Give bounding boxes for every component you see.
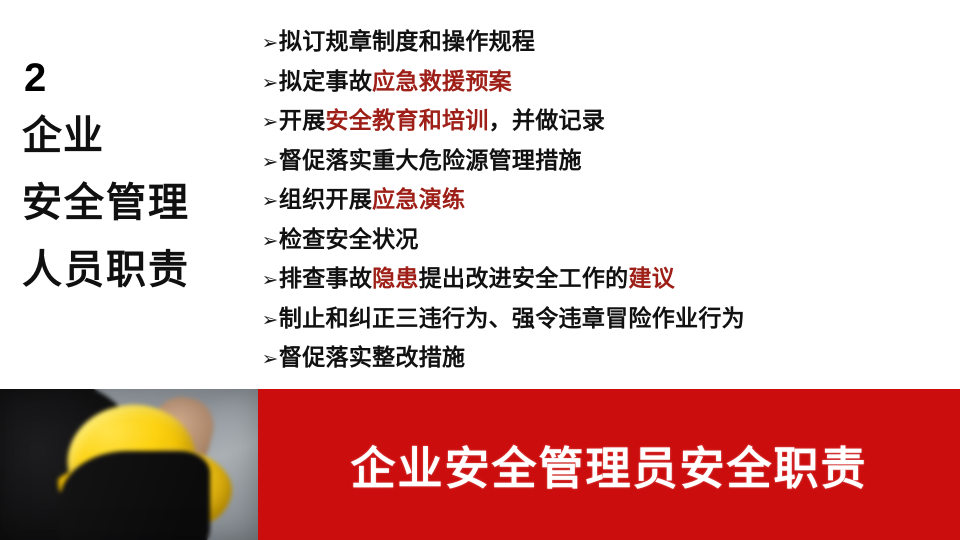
bullet-highlight-text: 安全教育和培训 xyxy=(326,107,489,133)
bullet-highlight-text: 应急救援预案 xyxy=(372,68,512,94)
bullet-item: ➢排查事故隐患提出改进安全工作的建议 xyxy=(262,259,954,299)
slide-canvas: 2 企业 安全管理 人员职责 ➢拟订规章制度和操作规程➢拟定事故应急救援预案➢开… xyxy=(0,0,960,540)
bullet-item: ➢拟定事故应急救援预案 xyxy=(262,62,954,102)
slide-number: 2 xyxy=(24,58,250,98)
photo-depth-blur xyxy=(0,389,258,540)
slide-title-line-2: 安全管理 xyxy=(22,183,250,223)
bullet-plain-text: 开展 xyxy=(279,107,326,133)
arrow-bullet-icon: ➢ xyxy=(262,301,279,341)
arrow-bullet-icon: ➢ xyxy=(262,222,279,262)
bullet-plain-text: 督促落实重大危险源管理措施 xyxy=(279,147,582,173)
arrow-bullet-icon: ➢ xyxy=(262,64,279,104)
bullet-plain-text: ，并做记录 xyxy=(489,107,606,133)
bullet-item: ➢督促落实重大危险源管理措施 xyxy=(262,141,954,181)
bullet-item: ➢组织开展应急演练 xyxy=(262,180,954,220)
bullet-plain-text: 制止和纠正三违行为、强令违章冒险作业行为 xyxy=(279,305,745,331)
arrow-bullet-icon: ➢ xyxy=(262,103,279,143)
bullet-plain-text: 排查事故 xyxy=(279,265,372,291)
bullet-item: ➢督促落实整改措施 xyxy=(262,338,954,378)
bullet-highlight-text: 隐患 xyxy=(372,265,419,291)
arrow-bullet-icon: ➢ xyxy=(262,24,279,64)
bullet-plain-text: 提出改进安全工作的 xyxy=(419,265,629,291)
banner-title: 企业安全管理员安全职责 xyxy=(350,432,867,497)
bullet-item: ➢开展安全教育和培训，并做记录 xyxy=(262,101,954,141)
banner-title-area: 企业安全管理员安全职责 xyxy=(258,389,960,540)
slide-title-line-3: 人员职责 xyxy=(22,250,250,290)
bullet-item: ➢拟订规章制度和操作规程 xyxy=(262,22,954,62)
arrow-bullet-icon: ➢ xyxy=(262,182,279,222)
arrow-bullet-icon: ➢ xyxy=(262,340,279,380)
slide-title-column: 2 企业 安全管理 人员职责 xyxy=(0,0,258,389)
bullet-item: ➢检查安全状况 xyxy=(262,220,954,260)
bullet-plain-text: 检查安全状况 xyxy=(279,226,419,252)
responsibility-bullet-list: ➢拟订规章制度和操作规程➢拟定事故应急救援预案➢开展安全教育和培训，并做记录➢督… xyxy=(262,22,954,387)
bullet-item-text: 拟定事故应急救援预案 xyxy=(279,62,512,102)
bullet-item-text: 督促落实整改措施 xyxy=(279,338,465,378)
bullet-item-text: 排查事故隐患提出改进安全工作的建议 xyxy=(279,259,675,299)
bullet-plain-text: 拟订规章制度和操作规程 xyxy=(279,28,535,54)
arrow-bullet-icon: ➢ xyxy=(262,143,279,183)
worker-photo xyxy=(0,389,258,540)
bullet-item-text: 组织开展应急演练 xyxy=(279,180,465,220)
bullet-highlight-text: 建议 xyxy=(628,265,675,291)
bullet-item-text: 制止和纠正三违行为、强令违章冒险作业行为 xyxy=(279,299,745,339)
bullet-item-text: 检查安全状况 xyxy=(279,220,419,260)
bullet-plain-text: 督促落实整改措施 xyxy=(279,344,465,370)
bottom-banner: 企业安全管理员安全职责 xyxy=(0,389,960,540)
bullet-plain-text: 组织开展 xyxy=(279,186,372,212)
bullet-highlight-text: 应急演练 xyxy=(372,186,465,212)
slide-title-line-1: 企业 xyxy=(22,116,250,156)
bullet-item: ➢制止和纠正三违行为、强令违章冒险作业行为 xyxy=(262,299,954,339)
bullet-item-text: 拟订规章制度和操作规程 xyxy=(279,22,535,62)
arrow-bullet-icon: ➢ xyxy=(262,261,279,301)
bullet-item-text: 督促落实重大危险源管理措施 xyxy=(279,141,582,181)
bullet-item-text: 开展安全教育和培训，并做记录 xyxy=(279,101,605,141)
bullet-plain-text: 拟定事故 xyxy=(279,68,372,94)
